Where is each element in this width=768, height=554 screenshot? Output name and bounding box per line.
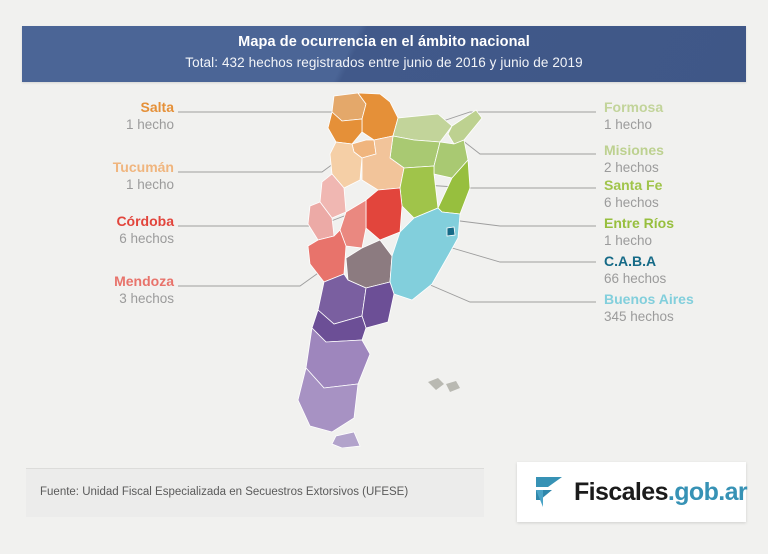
logo-word-fiscales: Fiscales [574,478,668,506]
callout-formosa-count: 1 hecho [604,117,663,132]
callout-entrerios[interactable]: Entre Ríos 1 hecho [604,216,674,248]
callout-mendoza-count: 3 hechos [114,291,174,306]
page-subtitle: Total: 432 hechos registrados entre juni… [22,55,746,70]
callout-mendoza-name: Mendoza [114,274,174,290]
callout-salta-name: Salta [126,100,174,116]
fiscales-logo[interactable]: Fiscales.gob.ar [517,462,746,522]
callout-misiones-name: Misiones [604,143,664,159]
callout-entrerios-count: 1 hecho [604,233,674,248]
callout-formosa[interactable]: Formosa 1 hecho [604,100,663,132]
callout-cordoba-name: Córdoba [116,214,174,230]
fiscales-logo-text: Fiscales.gob.ar [574,478,747,507]
region-mendoza [308,230,346,282]
callout-cordoba-count: 6 hechos [116,231,174,246]
callout-cordoba[interactable]: Córdoba 6 hechos [116,214,174,246]
region-cordoba [366,188,402,240]
callout-misiones-count: 2 hechos [604,160,664,175]
callout-buenosaires-count: 345 hechos [604,309,694,324]
source-text: Fuente: Unidad Fiscal Especializada en S… [40,486,408,498]
callout-misiones[interactable]: Misiones 2 hechos [604,143,664,175]
region-salta [358,93,398,140]
callout-formosa-name: Formosa [604,100,663,116]
page-title: Mapa de ocurrencia en el ámbito nacional [22,34,746,50]
logo-word-gobar: .gob.ar [668,478,747,506]
header-banner: Mapa de ocurrencia en el ámbito nacional… [22,26,746,82]
callout-buenosaires-name: Buenos Aires [604,292,694,308]
argentina-map [262,88,512,448]
region-misiones [448,110,482,144]
callout-mendoza[interactable]: Mendoza 3 hechos [114,274,174,306]
map-stage: Salta 1 hecho Tucumán 1 hecho Córdoba 6 … [0,88,768,448]
callout-buenosaires[interactable]: Buenos Aires 345 hechos [604,292,694,324]
callout-entrerios-name: Entre Ríos [604,216,674,232]
callout-tucuman-count: 1 hecho [113,177,174,192]
fiscales-flag-icon [534,473,564,511]
callout-caba-name: C.A.B.A [604,254,666,270]
callout-salta[interactable]: Salta 1 hecho [126,100,174,132]
callout-tucuman-name: Tucumán [113,160,174,176]
region-islas-malvinas [428,378,460,392]
source-box: Fuente: Unidad Fiscal Especializada en S… [26,468,484,517]
callout-tucuman[interactable]: Tucumán 1 hecho [113,160,174,192]
region-rionegro [362,282,394,328]
region-tierradelfuego [332,432,360,448]
callout-santafe-count: 6 hechos [604,195,662,210]
callout-caba[interactable]: C.A.B.A 66 hechos [604,254,666,286]
region-caba [447,227,455,236]
callout-caba-count: 66 hechos [604,271,666,286]
callout-santafe-name: Santa Fe [604,178,662,194]
callout-salta-count: 1 hecho [126,117,174,132]
callout-santafe[interactable]: Santa Fe 6 hechos [604,178,662,210]
